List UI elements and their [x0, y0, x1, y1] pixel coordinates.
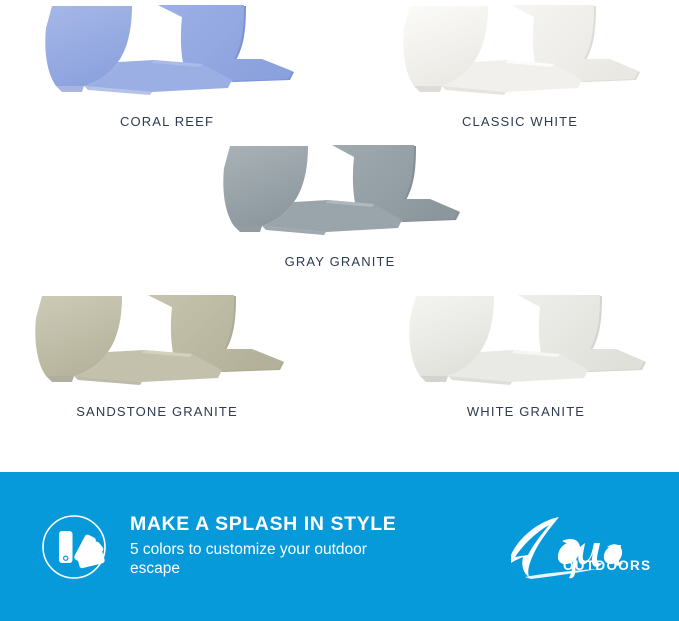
color-fan-swatch-icon: [40, 513, 108, 581]
swatch-label: CLASSIC WHITE: [392, 114, 648, 129]
swatch-label: CORAL REEF: [32, 114, 302, 129]
chaise-lounge-icon: [22, 292, 292, 402]
aqua-outdoors-logo: OUTDOORS: [505, 511, 655, 583]
banner-text-block: MAKE A SPLASH IN STYLE 5 colors to custo…: [130, 514, 505, 579]
banner-headline: MAKE A SPLASH IN STYLE: [130, 514, 505, 536]
product-color-options-page: CORAL REEF: [0, 0, 679, 621]
color-option-coral-reef[interactable]: CORAL REEF: [32, 2, 302, 129]
chaise-lounge-icon: [398, 292, 654, 402]
banner-subline: 5 colors to customize your outdoor escap…: [130, 540, 400, 580]
swatch-label: GRAY GRANITE: [212, 254, 468, 269]
swatch-label: WHITE GRANITE: [398, 404, 654, 419]
color-option-classic-white[interactable]: CLASSIC WHITE: [392, 2, 648, 129]
chaise-lounge-icon: [32, 2, 302, 112]
swatch-label: SANDSTONE GRANITE: [22, 404, 292, 419]
color-option-gray-granite[interactable]: GRAY GRANITE: [212, 142, 468, 269]
chaise-lounge-icon: [392, 2, 648, 112]
logo-wordmark: OUTDOORS: [563, 558, 651, 573]
color-swatch-grid: CORAL REEF: [0, 0, 679, 472]
promo-banner: MAKE A SPLASH IN STYLE 5 colors to custo…: [0, 472, 679, 621]
chaise-lounge-icon: [212, 142, 468, 252]
color-option-white-granite[interactable]: WHITE GRANITE: [398, 292, 654, 419]
color-option-sandstone-granite[interactable]: SANDSTONE GRANITE: [22, 292, 292, 419]
